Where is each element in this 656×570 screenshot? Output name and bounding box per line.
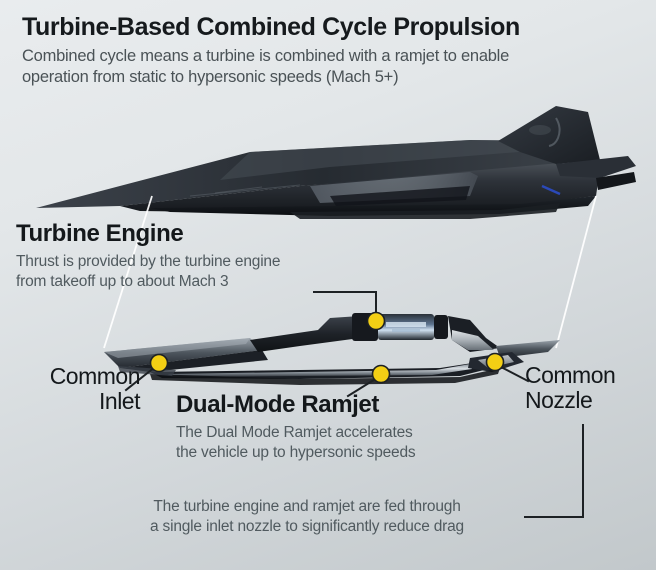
- turbine-caption-line-1: Thrust is provided by the turbine engine: [16, 252, 280, 272]
- common-inlet-marker[interactable]: [151, 355, 168, 372]
- common-nozzle-label: Common Nozzle: [525, 363, 653, 413]
- dual-mode-ramjet-caption: The Dual Mode Ramjet accelerates the veh…: [176, 423, 415, 463]
- subtitle-line-1: Combined cycle means a turbine is combin…: [22, 46, 509, 67]
- infographic-root: Turbine-Based Combined Cycle Propulsion …: [0, 0, 656, 570]
- leader-common-nozzle: [499, 366, 528, 381]
- aircraft-side-profile: [36, 106, 636, 219]
- turbine-engine-marker[interactable]: [368, 313, 385, 330]
- dual-mode-ramjet-heading: Dual-Mode Ramjet: [176, 392, 379, 417]
- turbine-engine-caption: Thrust is provided by the turbine engine…: [16, 252, 280, 292]
- ramjet-caption-line-1: The Dual Mode Ramjet accelerates: [176, 423, 415, 443]
- propulsion-cutaway: [104, 313, 560, 385]
- footer-line-2: a single inlet nozzle to significantly r…: [92, 517, 522, 537]
- ramjet-caption-line-2: the vehicle up to hypersonic speeds: [176, 443, 415, 463]
- common-nozzle-marker[interactable]: [487, 354, 504, 371]
- subtitle-line-2: operation from static to hypersonic spee…: [22, 67, 509, 88]
- leader-footer-bracket: [525, 425, 583, 517]
- footer-caption: The turbine engine and ramjet are fed th…: [92, 497, 522, 537]
- common-inlet-line-1: Common: [8, 364, 140, 389]
- page-title: Turbine-Based Combined Cycle Propulsion: [22, 14, 520, 40]
- common-inlet-label: Common Inlet: [8, 364, 140, 414]
- page-subtitle: Combined cycle means a turbine is combin…: [22, 46, 509, 88]
- common-inlet-line-2: Inlet: [8, 389, 140, 414]
- common-nozzle-line-2: Nozzle: [525, 388, 653, 413]
- zoom-connector-right: [556, 196, 596, 348]
- leader-turbine-engine: [314, 292, 376, 314]
- footer-line-1: The turbine engine and ramjet are fed th…: [92, 497, 522, 517]
- turbine-engine-heading: Turbine Engine: [16, 221, 183, 246]
- turbine-caption-line-2: from takeoff up to about Mach 3: [16, 272, 280, 292]
- common-nozzle-line-1: Common: [525, 363, 653, 388]
- dual-mode-ramjet-marker[interactable]: [373, 366, 390, 383]
